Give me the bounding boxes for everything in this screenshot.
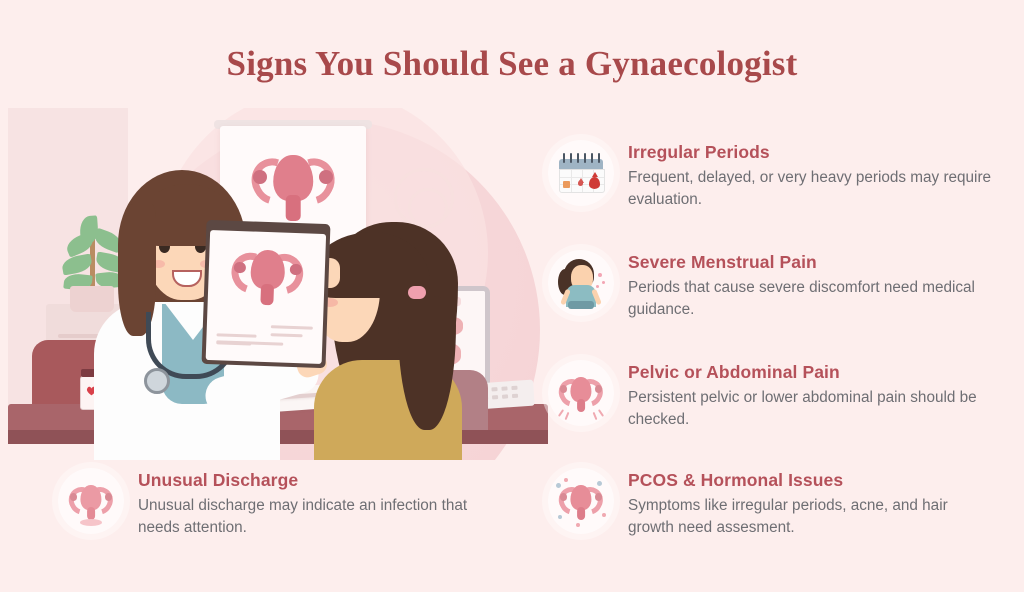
sign-body: Unusual discharge may indicate an infect… [138, 495, 506, 538]
sign-heading: PCOS & Hormonal Issues [628, 470, 996, 491]
sign-item-unusual-discharge[interactable]: Unusual Discharge Unusual discharge may … [58, 468, 506, 538]
uterus-pcos-cysts-icon [548, 468, 614, 534]
sign-body: Persistent pelvic or lower abdominal pai… [628, 387, 996, 430]
sign-item-irregular-periods[interactable]: Irregular Periods Frequent, delayed, or … [548, 140, 996, 210]
sign-item-severe-menstrual-pain[interactable]: Severe Menstrual Pain Periods that cause… [548, 250, 996, 320]
sign-heading: Unusual Discharge [138, 470, 506, 491]
infographic-page: Signs You Should See a Gynaecologist [0, 0, 1024, 592]
sign-body: Periods that cause severe discomfort nee… [628, 277, 996, 320]
sign-item-pcos-hormonal-issues[interactable]: PCOS & Hormonal Issues Symptoms like irr… [548, 468, 996, 538]
uterus-pain-rays-icon [548, 360, 614, 426]
signs-list: Irregular Periods Frequent, delayed, or … [0, 0, 1024, 592]
sign-heading: Pelvic or Abdominal Pain [628, 362, 996, 383]
calendar-blood-drop-icon [548, 140, 614, 206]
sign-body: Frequent, delayed, or very heavy periods… [628, 167, 996, 210]
woman-holding-abdomen-icon [548, 250, 614, 316]
sign-item-pelvic-or-abdominal-pain[interactable]: Pelvic or Abdominal Pain Persistent pelv… [548, 360, 996, 430]
sign-heading: Severe Menstrual Pain [628, 252, 996, 273]
sign-body: Symptoms like irregular periods, acne, a… [628, 495, 996, 538]
uterus-discharge-icon [58, 468, 124, 534]
sign-heading: Irregular Periods [628, 142, 996, 163]
